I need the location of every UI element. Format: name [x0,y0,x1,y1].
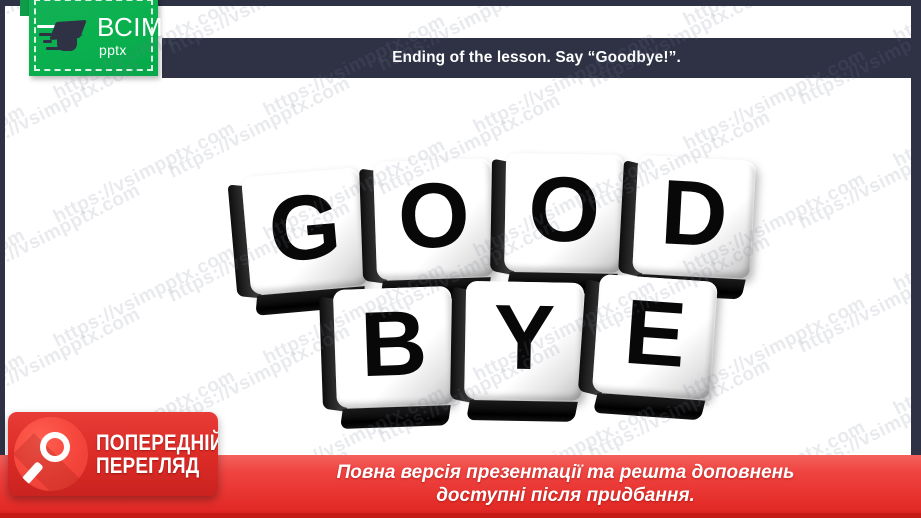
graduation-cap-icon [37,9,95,61]
logo-subtitle: pptx [99,43,163,57]
badge-line-2: ПЕРЕГЛЯД [96,454,218,477]
cube-bottom [466,400,578,422]
cube-face: B [333,286,455,408]
magnifier-icon [14,417,88,491]
block-letter: G [265,179,344,277]
letter-block: G [241,167,374,305]
logo-name: ВСІМ [97,14,163,40]
promo-line-1: Повна версія презентації та решта доповн… [337,462,795,483]
cube-face: D [632,155,756,279]
logo-body: ВСІМ pptx [29,0,158,76]
slide-title-bar: Ending of the lesson. Say “Goodbye!”. [162,38,911,78]
cube-face: E [592,274,718,400]
block-letter: B [359,297,429,391]
block-letter: O [528,163,601,256]
block-row-bottom: B Y E [335,286,717,414]
block-letter: O [396,169,471,263]
preview-badge[interactable]: ПОПЕРЕДНІЙ ПЕРЕГЛЯД [8,412,218,496]
letter-block: Y [464,281,588,411]
promo-text: Повна версія презентації та решта доповн… [337,461,795,507]
goodbye-blocks-image: G O O D [235,156,780,431]
page-title: Ending of the lesson. Say “Goodbye!”. [392,49,681,67]
letter-block: O [373,158,499,290]
vsimpptx-logo[interactable]: ВСІМ pptx [20,0,158,82]
cube-face: O [504,153,624,273]
presentation-slide: G O O D [0,0,921,518]
promo-line-2: доступні після придбання. [436,485,695,506]
cube-face: O [373,158,495,280]
letter-block: B [333,286,459,418]
letter-block: D [632,155,761,289]
letter-block: O [504,153,628,283]
badge-line-1: ПОПЕРЕДНІЙ [96,430,218,455]
cube-face: Y [464,281,584,401]
preview-badge-label: ПОПЕРЕДНІЙ ПЕРЕГЛЯД [96,431,218,477]
promo-bottom-strip [0,513,921,518]
block-letter: E [621,286,689,382]
block-letter: Y [493,291,556,384]
block-row-top: G O O D [245,156,757,284]
cube-bottom [340,405,451,429]
letter-block: E [591,274,722,410]
cube-face: G [241,167,369,295]
block-letter: D [659,166,730,261]
